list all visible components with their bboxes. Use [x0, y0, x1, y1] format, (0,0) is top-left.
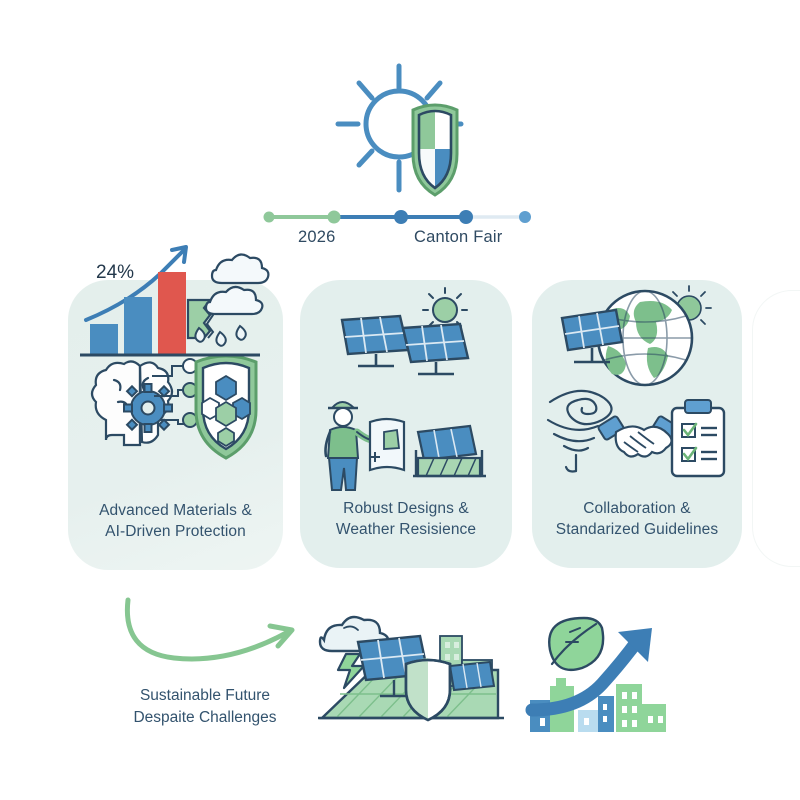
solar-shield-logo [330, 62, 480, 202]
solar-panel-icon [403, 324, 468, 374]
caption-line-1: Collaboration & [532, 498, 742, 519]
protected-solar-roof-scene [310, 602, 510, 737]
growth-percent-label: 24% [96, 262, 134, 284]
card-ghost-outline [752, 290, 800, 567]
caption-line-2: Weather Resisience [300, 519, 512, 540]
engineer-icon [326, 402, 374, 490]
gear-icon [124, 384, 172, 432]
timeline-label-canton-fair: Canton Fair [414, 228, 502, 247]
bar-0 [90, 324, 118, 354]
timeline-node-0 [264, 212, 275, 223]
panel-array-icon [413, 426, 486, 476]
card-advanced-materials-caption: Advanced Materials & AI-Driven Protectio… [68, 500, 283, 542]
bar-2 [158, 272, 186, 354]
bottom-caption-line-1: Sustainable Future [60, 685, 350, 707]
bottom-caption: Sustainable Future Despaite Challenges [60, 685, 350, 729]
solar-panel-icon [342, 316, 408, 366]
blueprint-icon [370, 419, 404, 470]
timeline-node-2 [394, 210, 408, 224]
caption-line-2: AI-Driven Protection [68, 521, 283, 542]
caption-line-1: Robust Designs & [300, 498, 512, 519]
clipboard-checklist-icon [672, 400, 724, 476]
timeline-node-3 [459, 210, 473, 224]
infographic-canvas: 2026 Canton Fair [0, 0, 800, 800]
card-robust-designs-art [300, 280, 512, 495]
timeline-node-1 [328, 211, 341, 224]
caption-line-1: Advanced Materials & [68, 500, 283, 521]
leaf-icon [549, 618, 603, 670]
bar-1 [124, 297, 152, 354]
shield-icon [406, 658, 450, 720]
solar-panel-icon [450, 662, 494, 690]
event-timeline[interactable] [255, 205, 545, 229]
timeline-label-2026: 2026 [298, 228, 336, 247]
curved-arrow-icon [120, 596, 320, 686]
card-collaboration[interactable]: Collaboration & Standarized Guidelines [532, 280, 742, 568]
card-robust-designs-caption: Robust Designs & Weather Resisience [300, 498, 512, 540]
card-collaboration-art [532, 280, 742, 495]
shield-icon [413, 105, 457, 195]
caption-line-2: Standarized Guidelines [532, 519, 742, 540]
bottom-caption-line-2: Despaite Challenges [60, 707, 350, 729]
green-growth-scene [522, 606, 692, 736]
timeline-node-4 [519, 211, 531, 223]
card-collaboration-caption: Collaboration & Standarized Guidelines [532, 498, 742, 540]
card-robust-designs[interactable]: Robust Designs & Weather Resisience [300, 280, 512, 568]
handshake-icon [597, 415, 678, 456]
storm-cloud-icon [206, 254, 268, 314]
